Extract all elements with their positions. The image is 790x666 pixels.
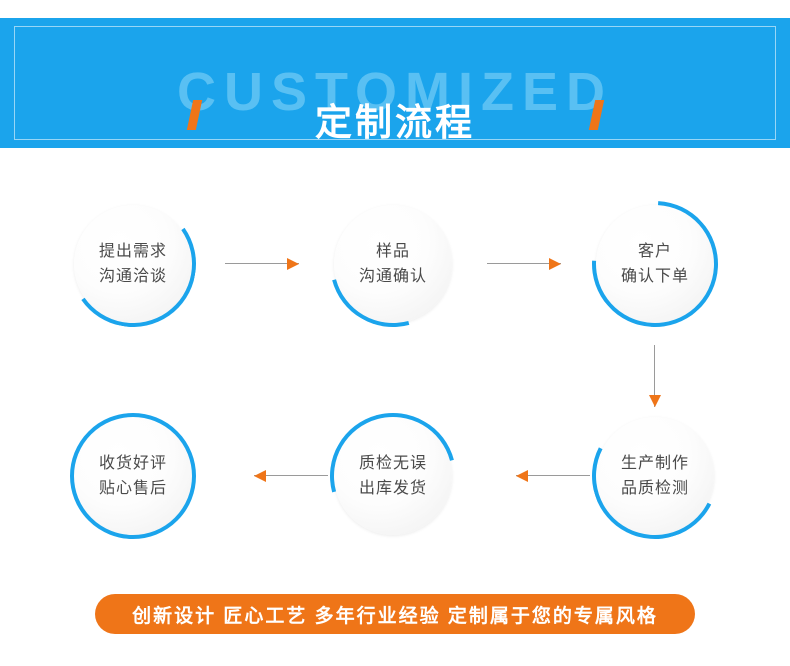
- flow-node-2-line1: 样品: [376, 239, 410, 264]
- arrow-node1-to-node2: [225, 258, 299, 270]
- flow-node-4-line1: 生产制作: [621, 451, 689, 476]
- arrow-head-icon: [549, 258, 561, 270]
- arrow-head-icon: [254, 470, 266, 482]
- flow-node-2-label: 样品 沟通确认: [334, 205, 452, 323]
- flow-node-6-label: 收货好评 贴心售后: [74, 417, 192, 535]
- flow-node-5-line1: 质检无误: [359, 451, 427, 476]
- flow-node-5-label: 质检无误 出库发货: [334, 417, 452, 535]
- flow-node-1-label: 提出需求 沟通洽谈: [74, 205, 192, 323]
- flow-node-1-line2: 沟通洽谈: [99, 264, 167, 289]
- flow-node-3: 客户 确认下单: [596, 205, 714, 323]
- flow-node-4: 生产制作 品质检测: [596, 417, 714, 535]
- arrow-head-icon: [287, 258, 299, 270]
- flow-node-3-label: 客户 确认下单: [596, 205, 714, 323]
- flow-node-6-line2: 贴心售后: [99, 476, 167, 501]
- customization-process-infographic: CUSTOMIZED 定制流程 提出需求 沟通洽谈 样品 沟通确认 客户 确认下…: [0, 0, 790, 666]
- flow-node-4-line2: 品质检测: [621, 476, 689, 501]
- flow-node-2: 样品 沟通确认: [334, 205, 452, 323]
- flow-node-2-line2: 沟通确认: [359, 264, 427, 289]
- flow-node-5-line2: 出库发货: [359, 476, 427, 501]
- header-banner: CUSTOMIZED 定制流程: [0, 18, 790, 148]
- arrow-node5-to-node6: [254, 470, 328, 482]
- flow-node-3-line2: 确认下单: [621, 264, 689, 289]
- arrow-node4-to-node5: [516, 470, 590, 482]
- footer-slogan-banner: 创新设计 匠心工艺 多年行业经验 定制属于您的专属风格: [95, 594, 695, 634]
- arrow-node2-to-node3: [487, 258, 561, 270]
- flow-node-1-line1: 提出需求: [99, 239, 167, 264]
- arrow-node3-to-node4: [649, 345, 661, 407]
- arrow-head-icon: [516, 470, 528, 482]
- flow-node-1: 提出需求 沟通洽谈: [74, 205, 192, 323]
- flow-node-6: 收货好评 贴心售后: [74, 417, 192, 535]
- flow-node-6-line1: 收货好评: [99, 451, 167, 476]
- flow-node-4-label: 生产制作 品质检测: [596, 417, 714, 535]
- page-title: 定制流程: [0, 102, 790, 144]
- arrow-head-icon: [649, 395, 661, 407]
- footer-slogan-text: 创新设计 匠心工艺 多年行业经验 定制属于您的专属风格: [132, 601, 658, 628]
- flow-node-5: 质检无误 出库发货: [334, 417, 452, 535]
- flow-node-3-line1: 客户: [638, 239, 672, 264]
